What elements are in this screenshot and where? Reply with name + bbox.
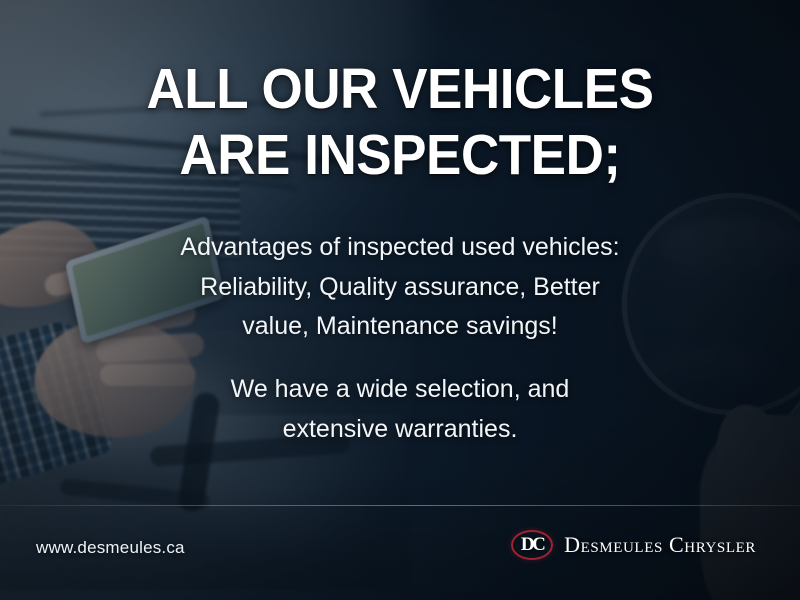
body-paragraph-benefits: Advantages of inspected used vehicles: R… [110,228,690,347]
monogram-letters: DC [511,530,553,560]
dc-monogram-icon: DC [511,530,553,560]
logo-wordmark: Desmeules Chrysler [564,532,756,558]
body-paragraph-selection: We have a wide selection, and extensive … [110,370,690,449]
website-url[interactable]: www.desmeules.ca [36,538,185,558]
promotional-banner: ALL OUR VEHICLES ARE INSPECTED; Advantag… [0,0,800,600]
dealership-logo[interactable]: DC Desmeules Chrysler [511,530,756,560]
banner-content: ALL OUR VEHICLES ARE INSPECTED; Advantag… [0,0,800,600]
headline: ALL OUR VEHICLES ARE INSPECTED; [28,56,772,188]
footer-divider [0,505,800,506]
